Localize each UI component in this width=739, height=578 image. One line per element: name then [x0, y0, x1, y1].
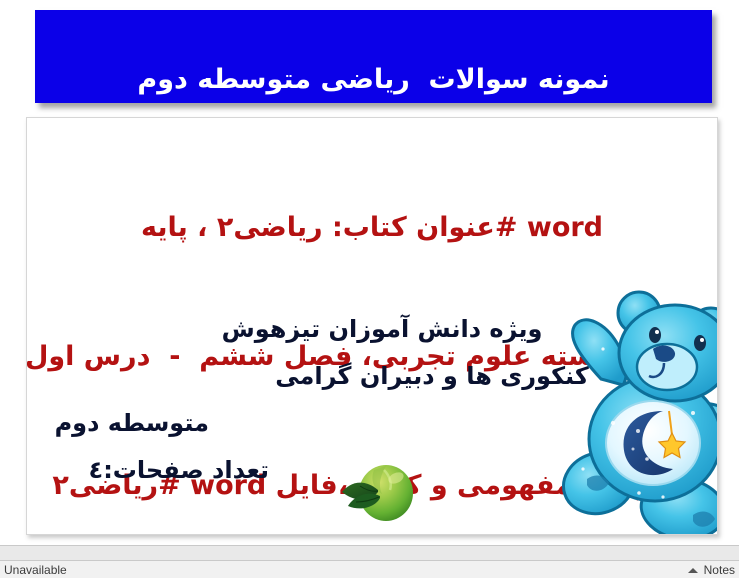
- page-title: نمونه سوالات ریاضی متوسطه دوم: [137, 65, 609, 95]
- body-text-block: ویژه دانش آموزان تیزهوش کنکوری ها و دبیر…: [27, 306, 717, 494]
- status-bar: Unavailable Notes: [0, 545, 739, 578]
- body-line-teachers: کنکوری ها و دبیران گرامی: [35, 353, 709, 400]
- status-bar-panel: [0, 546, 739, 561]
- status-bar-divider: [0, 560, 739, 561]
- status-right-group[interactable]: Notes: [688, 563, 735, 577]
- body-line-level: متوسطه دوم: [35, 400, 709, 447]
- content-card: word #عنوان کتاب: ریاضی۲ ، پایه یازدهم-ر…: [26, 117, 718, 535]
- caret-up-icon[interactable]: [688, 568, 698, 573]
- red-heading-line-1: word #عنوان کتاب: ریاضی۲ ، پایه: [33, 206, 711, 249]
- header-banner: نمونه سوالات ریاضی متوسطه دوم: [35, 10, 712, 103]
- body-line-audience: ویژه دانش آموزان تیزهوش: [35, 306, 709, 353]
- status-right-text[interactable]: Notes: [704, 563, 735, 577]
- body-line-page-count: تعداد صفحات:٤: [35, 447, 709, 494]
- status-left-text: Unavailable: [4, 563, 67, 577]
- header-banner-fill: نمونه سوالات ریاضی متوسطه دوم: [35, 10, 712, 103]
- document-page: نمونه سوالات ریاضی متوسطه دوم word #عنوا…: [0, 0, 739, 577]
